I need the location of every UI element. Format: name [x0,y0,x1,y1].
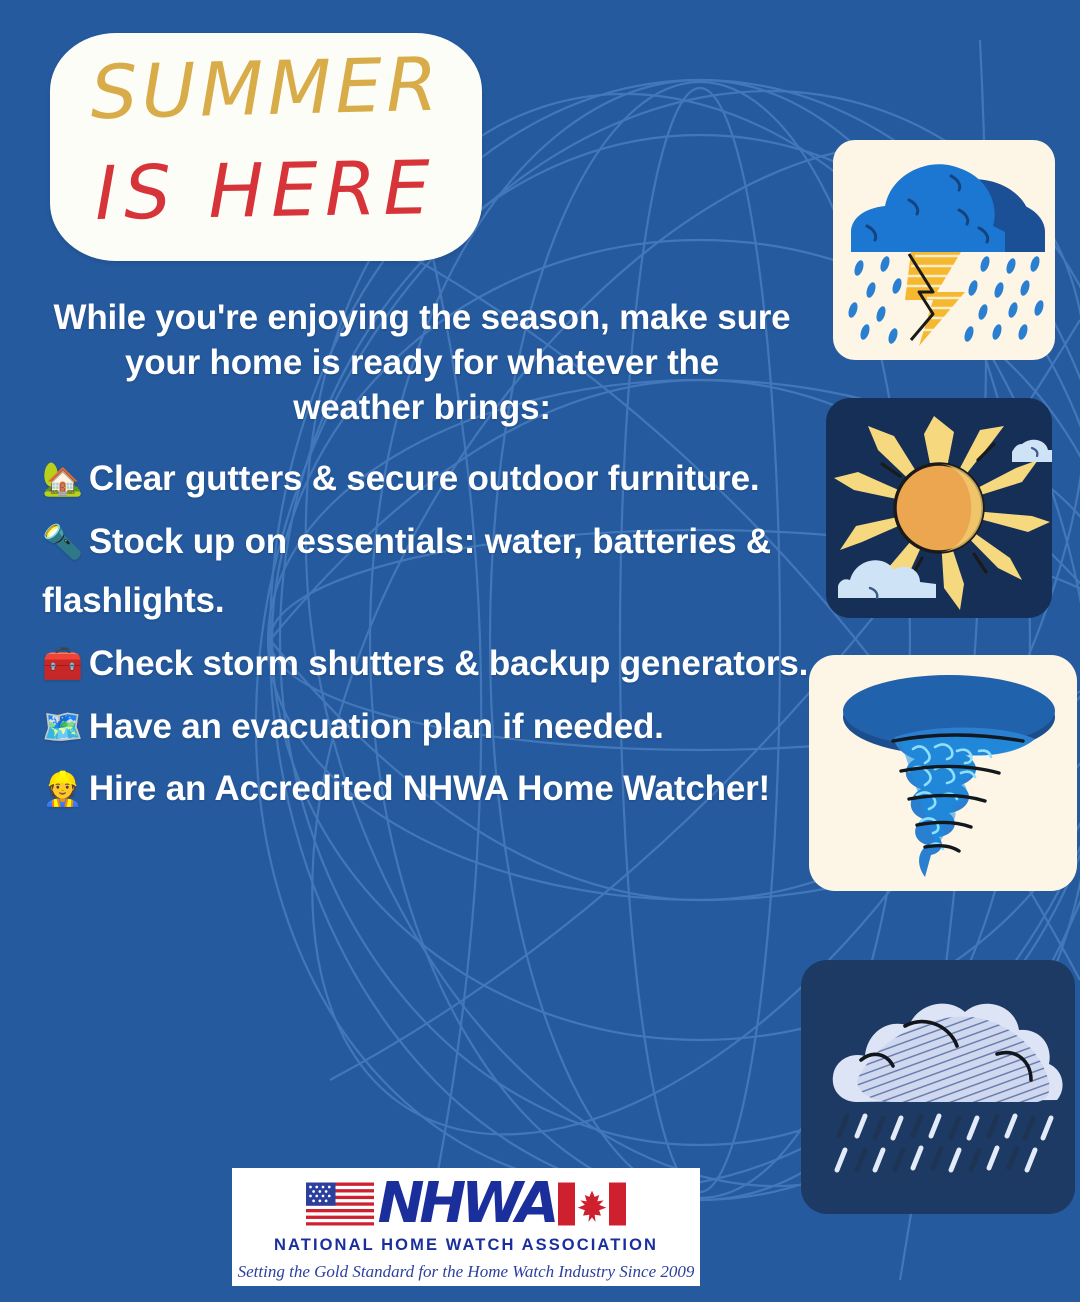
rain-cloud-icon [801,960,1075,1214]
summer-is-here-badge: SUMMER IS HERE [50,33,482,261]
logo-subtitle: NATIONAL HOME WATCH ASSOCIATION [274,1236,658,1255]
summer-safety-poster: SUMMER IS HERE While you're enjoying the… [0,0,1080,1302]
canada-flag-icon [558,1182,626,1226]
construction-worker-emoji: 👷 [42,769,83,808]
toolbox-emoji: 🧰 [42,644,83,683]
tornado-icon [809,655,1077,891]
house-with-garden-emoji: 🏡 [42,459,83,498]
intro-line-3: weather brings: [42,386,802,431]
nhwa-logo: NHWA NATIONAL HOME WATCH ASSOCIATION Set… [232,1168,700,1286]
list-item-label: Clear gutters & secure outdoor furniture… [89,459,760,498]
intro-paragraph: While you're enjoying the season, make s… [42,296,802,430]
weather-card-rain [801,960,1075,1214]
logo-mark-row: NHWA [306,1173,627,1235]
weather-card-sunny [826,398,1052,618]
checklist: 🏡Clear gutters & secure outdoor furnitur… [42,450,812,819]
list-item-label: Check storm shutters & backup generators… [89,644,808,683]
weather-card-thunderstorm [833,140,1055,360]
list-item: 🏡Clear gutters & secure outdoor furnitur… [42,450,812,509]
world-map-emoji: 🗺️ [42,707,83,746]
list-item: 🧰Check storm shutters & backup generator… [42,635,812,694]
list-item: 🔦Stock up on essentials: water, batterie… [42,513,812,631]
weather-card-tornado [809,655,1077,891]
intro-line-1: While you're enjoying the season, make s… [42,296,802,341]
logo-tagline: Setting the Gold Standard for the Home W… [238,1262,695,1282]
list-item-label: Stock up on essentials: water, batteries… [42,522,771,620]
sun-icon [826,398,1052,618]
intro-line-2: your home is ready for whatever the [42,341,802,386]
badge-line-summer: SUMMER [49,42,483,138]
list-item: 🗺️Have an evacuation plan if needed. [42,698,812,757]
badge-line-is-here: IS HERE [49,145,482,238]
list-item-label: Hire an Accredited NHWA Home Watcher! [89,769,770,808]
poster-copy: While you're enjoying the season, make s… [42,296,812,823]
flashlight-emoji: 🔦 [42,522,83,561]
logo-wordmark: NHWA [378,1176,555,1232]
thunderstorm-icon [833,140,1055,360]
list-item-label: Have an evacuation plan if needed. [89,707,664,746]
list-item: 👷Hire an Accredited NHWA Home Watcher! [42,760,812,819]
us-flag-icon [306,1182,374,1226]
